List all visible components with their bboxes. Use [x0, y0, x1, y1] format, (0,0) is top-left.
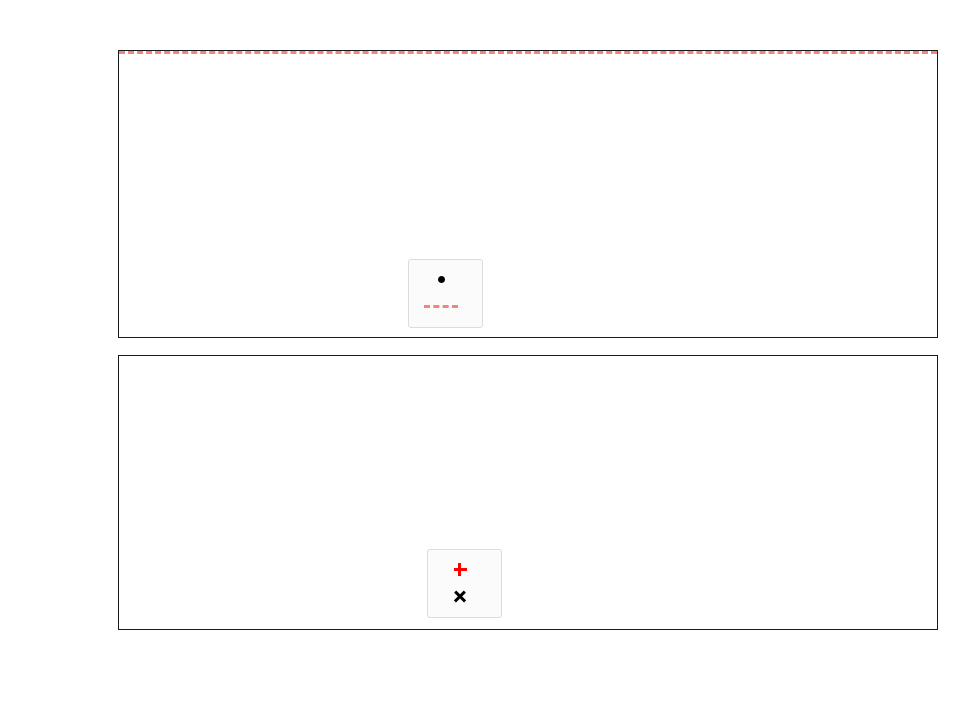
- legend-item-threshold: [418, 293, 471, 320]
- top-plot-points: [119, 51, 937, 337]
- legend-item-predicted-stars: [437, 583, 490, 610]
- bottom-plot-axes: [118, 355, 938, 630]
- legend-item-matched-stars: [437, 556, 490, 583]
- top-plot-axes: [118, 50, 938, 338]
- top-legend: [408, 259, 483, 328]
- bottom-plot-points: [119, 356, 937, 629]
- threshold-dashed-line-icon: [418, 297, 464, 317]
- legend-item-measurements: [418, 266, 471, 293]
- predicted-cross-marker-icon: [437, 587, 483, 607]
- measurements-marker-icon: [418, 270, 464, 290]
- threshold-line: [119, 51, 937, 54]
- figure-canvas: [0, 0, 960, 720]
- matched-plus-marker-icon: [437, 560, 483, 580]
- bottom-legend: [427, 549, 502, 618]
